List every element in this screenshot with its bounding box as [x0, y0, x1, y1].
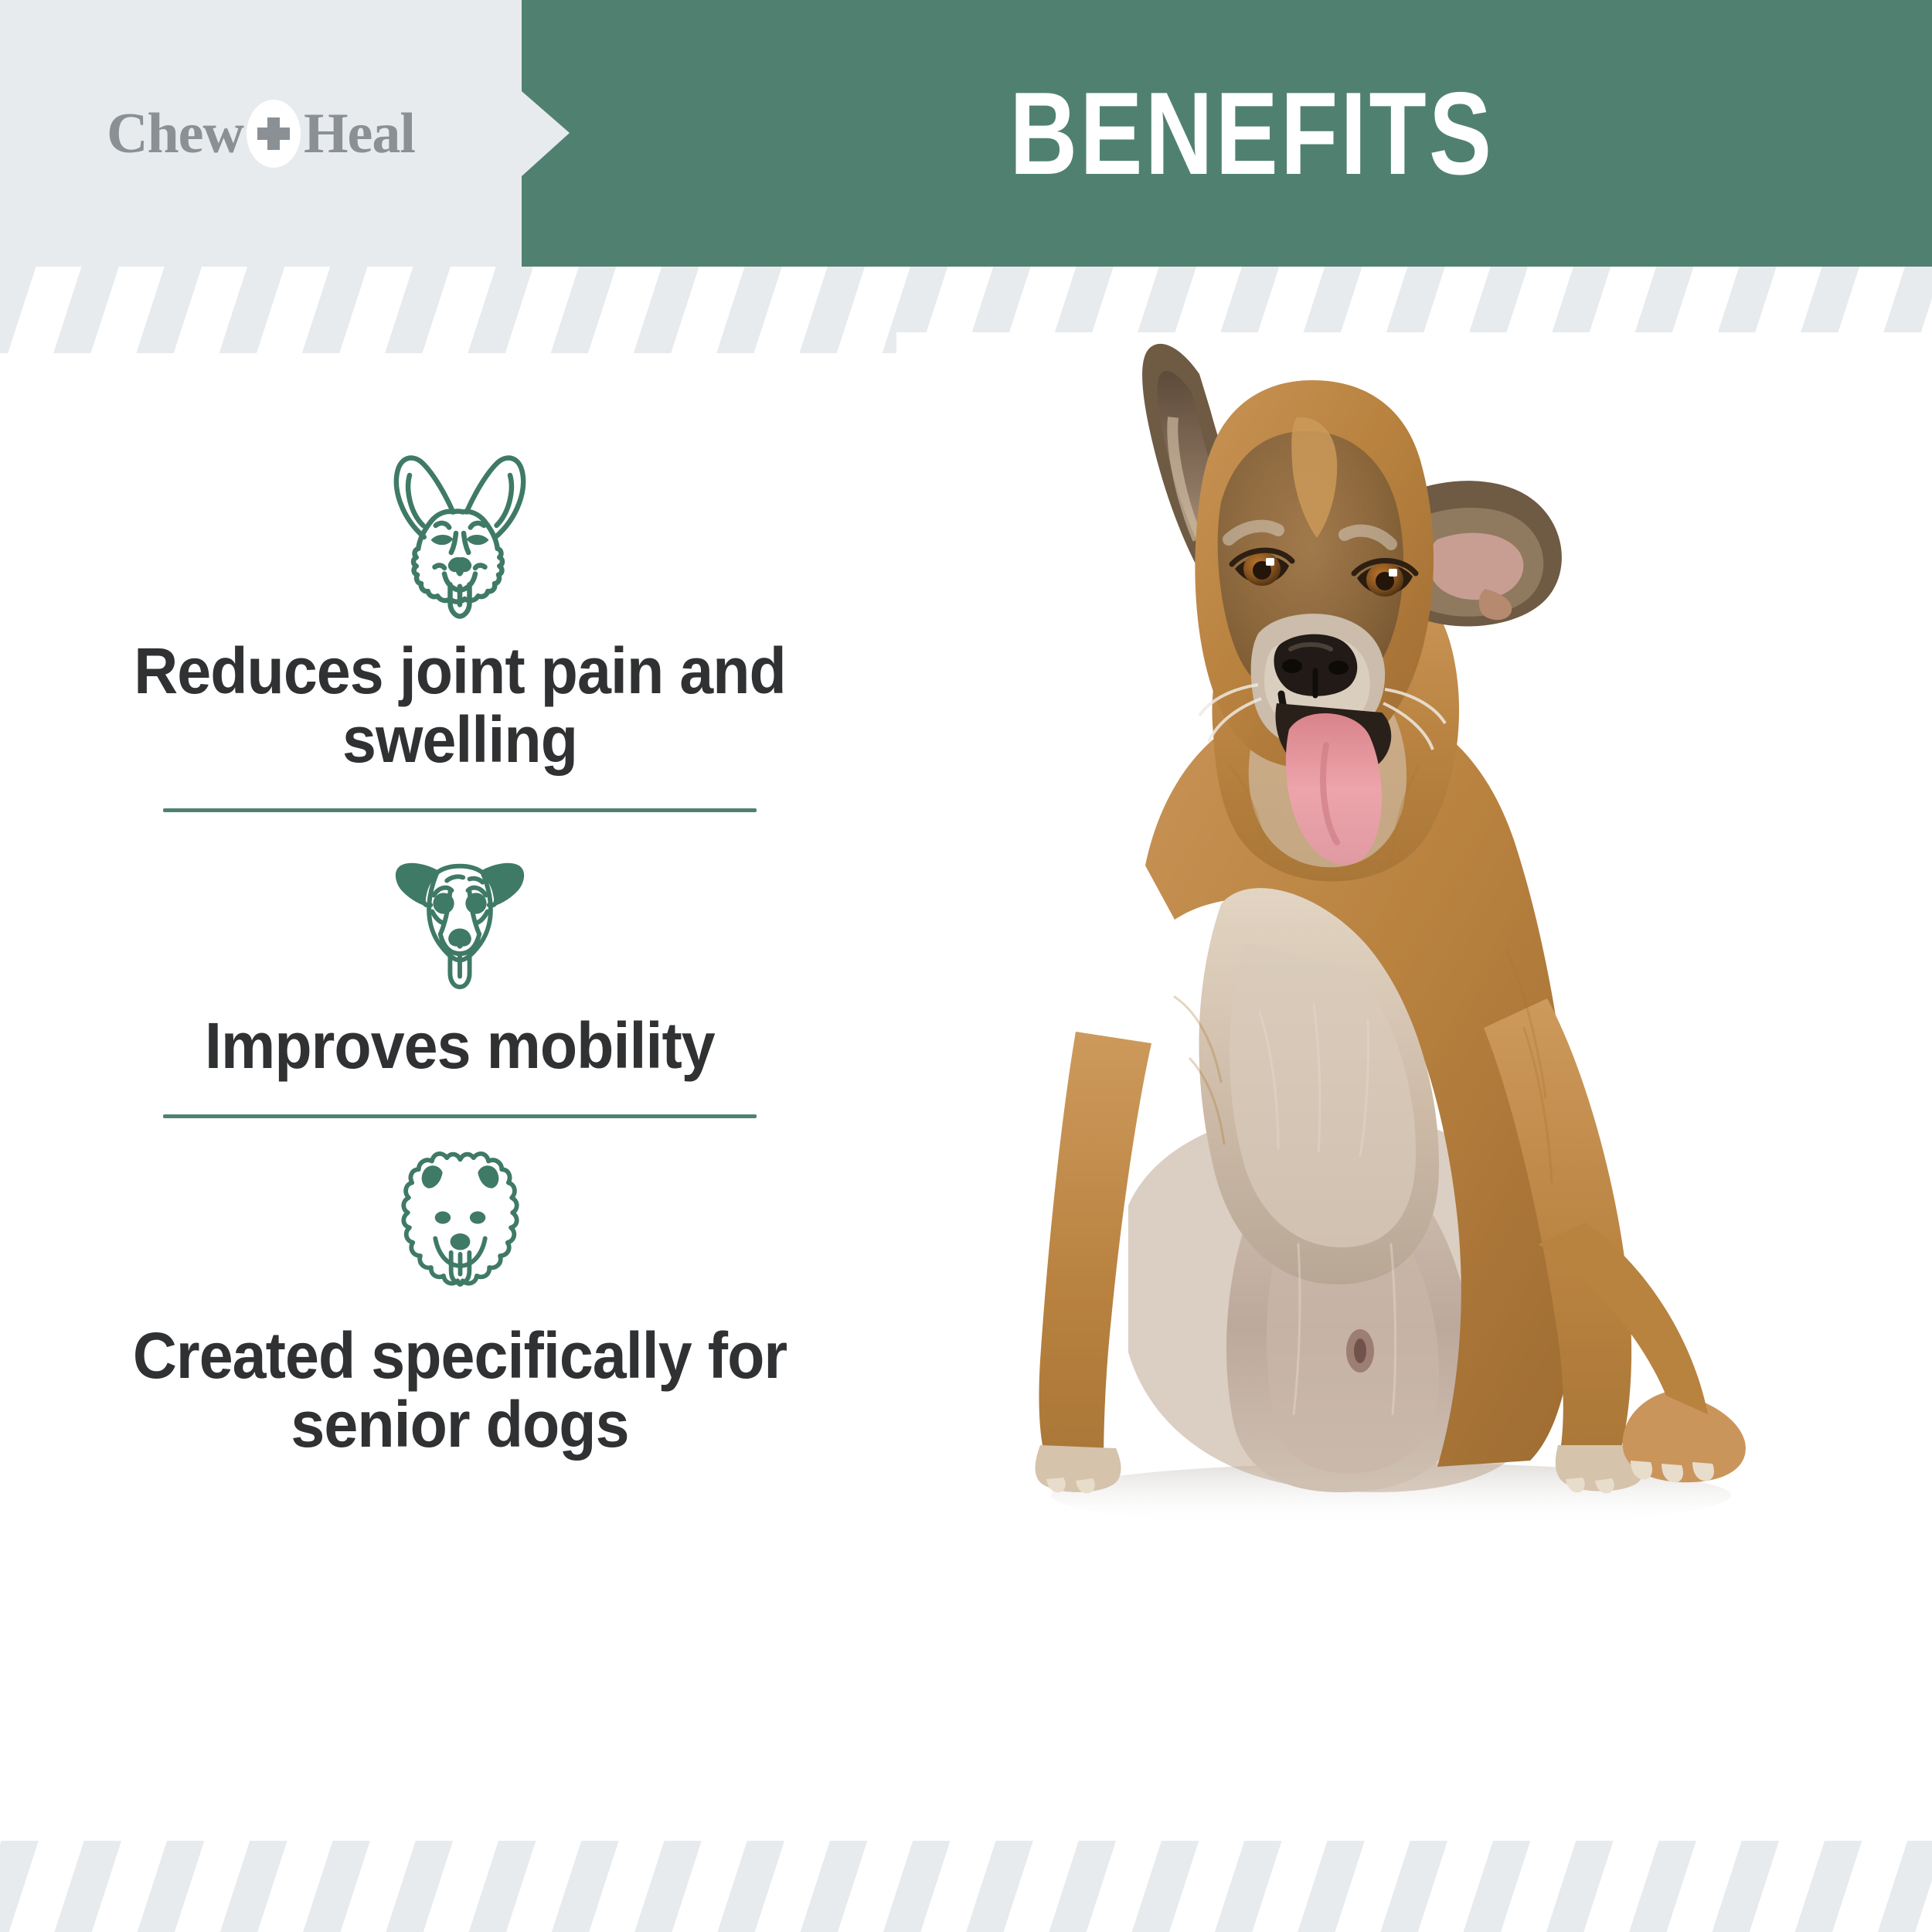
page-title-text: BENEFITS — [1010, 75, 1495, 192]
benefit-divider-1 — [163, 808, 757, 812]
benefit-item-2: Improves mobility — [46, 838, 873, 1080]
page-title: BENEFITS — [572, 0, 1932, 267]
benefit-label-2: Improves mobility — [205, 1012, 715, 1080]
logo-cross-shape — [257, 117, 290, 150]
benefits-list: Reduces joint pain and swelling — [46, 433, 873, 1459]
benefit-divider-2 — [163, 1114, 757, 1118]
dog-photo — [896, 332, 1924, 1862]
logo-word-heal: Heal — [304, 105, 415, 162]
header-bar: Chew Heal BENEFITS — [0, 0, 1932, 267]
samoyed-dog-face-icon — [377, 1145, 543, 1311]
logo-word-chew: Chew — [107, 105, 243, 162]
bottom-stripe-pattern — [0, 1841, 1932, 1932]
bottom-stripe-band — [0, 1841, 1932, 1932]
medical-cross-icon — [247, 100, 301, 168]
benefit-item-1: Reduces joint pain and swelling — [46, 433, 873, 774]
brand-logo[interactable]: Chew Heal — [0, 91, 522, 176]
benefit-item-3: Created specifically for senior dogs — [46, 1145, 873, 1459]
terrier-dog-face-icon — [379, 838, 541, 1001]
benefit-label-3: Created specifically for senior dogs — [71, 1321, 849, 1459]
poster-canvas: Chew Heal BENEFITS — [0, 0, 1932, 1932]
corgi-dog-face-icon — [363, 433, 556, 626]
benefit-label-1: Reduces joint pain and swelling — [71, 637, 849, 774]
